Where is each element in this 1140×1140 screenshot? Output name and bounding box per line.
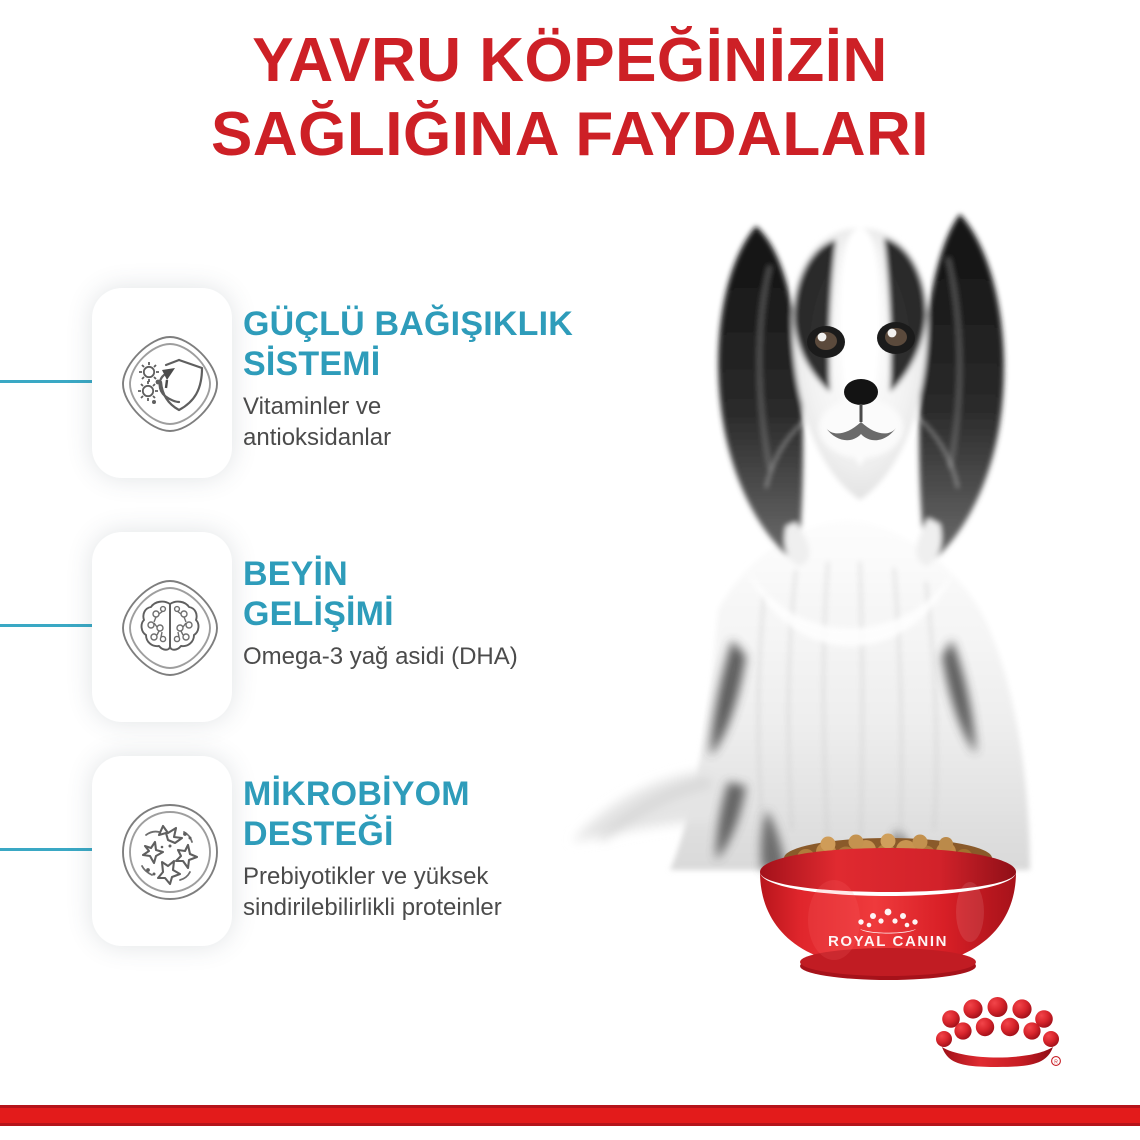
dog-food-bowl: ROYAL CANIN	[738, 828, 1038, 988]
heading-line: DESTEĞİ	[243, 814, 623, 854]
benefit-subtext: Omega-3 yağ asidi (DHA)	[243, 641, 623, 672]
subtext-line: sindirilebilirlikli proteinler	[243, 892, 623, 923]
crown-arc	[942, 1047, 1053, 1067]
title-line-1: YAVRU KÖPEĞİNİZİN	[0, 24, 1140, 98]
subtext-line: antioksidanlar	[243, 422, 623, 453]
royal-canin-crown-logo: R	[930, 995, 1065, 1075]
heading-line: SİSTEMİ	[243, 344, 623, 384]
benefit-text-group: BEYİN GELİŞİMİ Omega-3 yağ asidi (DHA)	[243, 554, 623, 672]
heading-line: GELİŞİMİ	[243, 594, 623, 634]
benefit-text-group: MİKROBİYOM DESTEĞİ Prebiyotikler ve yüks…	[243, 774, 623, 923]
microbiome-icon	[118, 800, 222, 904]
heading-line: GÜÇLÜ BAĞIŞIKLIK	[243, 304, 623, 344]
papillon-puppy-photo	[560, 170, 1120, 910]
subtext-line: Vitaminler ve	[243, 391, 623, 422]
title-line-2: SAĞLIĞINA FAYDALARI	[0, 98, 1140, 172]
subtext-line: Omega-3 yağ asidi (DHA)	[243, 641, 623, 672]
connector-line	[0, 848, 96, 851]
heading-line: MİKROBİYOM	[243, 774, 623, 814]
benefit-subtext: Prebiyotikler ve yüksek sindirilebilirli…	[243, 861, 623, 923]
connector-line	[0, 380, 96, 383]
benefit-subtext: Vitaminler ve antioksidanlar	[243, 391, 623, 453]
crown-dots	[936, 997, 1059, 1047]
bottom-red-bar	[0, 1105, 1140, 1126]
benefit-heading: GÜÇLÜ BAĞIŞIKLIK SİSTEMİ	[243, 304, 623, 384]
brain-icon	[118, 576, 222, 680]
benefit-text-group: GÜÇLÜ BAĞIŞIKLIK SİSTEMİ Vitaminler ve a…	[243, 304, 623, 453]
connector-line	[0, 624, 96, 627]
page-title: YAVRU KÖPEĞİNİZİN SAĞLIĞINA FAYDALARI	[0, 24, 1140, 172]
product-benefits-infographic: YAVRU KÖPEĞİNİZİN SAĞLIĞINA FAYDALARI	[0, 0, 1140, 1140]
immunity-shield-icon	[118, 332, 222, 436]
bowl-brand-text: ROYAL CANIN	[828, 933, 948, 950]
heading-line: BEYİN	[243, 554, 623, 594]
benefit-heading: BEYİN GELİŞİMİ	[243, 554, 623, 634]
subtext-line: Prebiyotikler ve yüksek	[243, 861, 623, 892]
benefit-heading: MİKROBİYOM DESTEĞİ	[243, 774, 623, 854]
svg-text:R: R	[1054, 1060, 1058, 1066]
